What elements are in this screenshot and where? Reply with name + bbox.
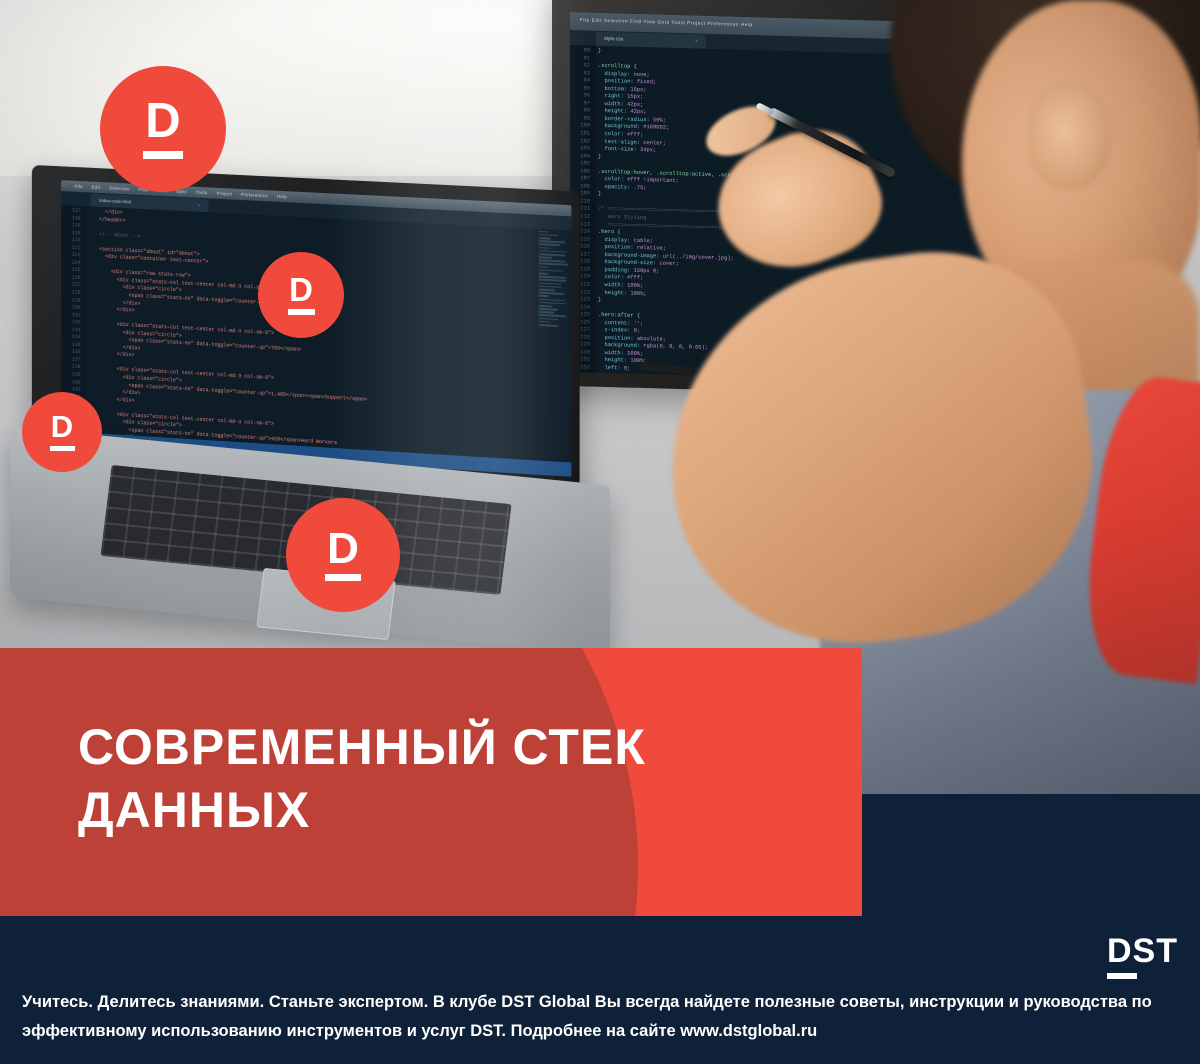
- menu-item-help[interactable]: Help: [277, 194, 287, 199]
- d-badge-underline-icon: [288, 309, 315, 315]
- person-ear: [1026, 80, 1112, 190]
- menu-item-file[interactable]: File: [75, 184, 83, 189]
- minimap-line: [539, 282, 562, 285]
- monitor-tab-label: style.css: [604, 36, 623, 43]
- code-text: .scrolltop {: [598, 63, 637, 70]
- footer-fill: [862, 794, 1200, 918]
- minimap-line: [539, 318, 559, 321]
- dst-logo-text: DST: [1107, 932, 1178, 970]
- menu-item-project[interactable]: Project: [216, 191, 232, 197]
- d-badge-letter: D: [327, 529, 359, 569]
- minimap-line: [539, 279, 567, 282]
- d-badge-underline-icon: [143, 151, 183, 159]
- menu-item-preferences[interactable]: Preferences: [241, 192, 268, 198]
- minimap-line: [539, 234, 558, 237]
- minimap-line: [539, 298, 565, 301]
- minimap-line: [539, 311, 554, 313]
- code-text: }: [598, 48, 601, 54]
- minimap-line: [539, 308, 559, 311]
- minimap-line: [539, 295, 549, 297]
- minimap-line: [539, 243, 560, 246]
- d-badge-letter: D: [289, 275, 313, 305]
- code-text: width: 42px;: [598, 101, 643, 108]
- menu-item-edit[interactable]: Edit: [92, 185, 101, 190]
- code-text: }: [598, 153, 601, 159]
- d-badge-letter: D: [51, 413, 73, 442]
- menu-item-selection[interactable]: Selection: [109, 185, 129, 191]
- footer-note: Учитесь. Делитесь знаниями. Станьте эксп…: [22, 988, 1182, 1046]
- minimap-line: [539, 324, 559, 327]
- laptop-tab-label: index-code.html: [99, 198, 131, 205]
- minimap-line: [539, 231, 549, 233]
- minimap-line: [539, 263, 569, 266]
- minimap-line: [539, 305, 553, 307]
- minimap-line: [539, 314, 567, 317]
- d-badge-underline-icon: [325, 574, 361, 581]
- minimap-line: [539, 321, 550, 323]
- page-title: СОВРЕМЕННЫЙ СТЕК ДАННЫХ: [78, 716, 838, 842]
- d-badge-3[interactable]: D: [22, 392, 102, 472]
- code-text: right: 15px;: [598, 93, 643, 100]
- close-icon: ×: [198, 202, 201, 207]
- minimap-line: [539, 247, 551, 249]
- dst-logo: DST: [1107, 934, 1178, 979]
- dst-logo-underline-icon: [1107, 973, 1137, 979]
- d-badge-1[interactable]: D: [100, 66, 226, 192]
- menu-item-tools[interactable]: Tools: [196, 190, 208, 196]
- d-badge-4[interactable]: D: [286, 498, 400, 612]
- minimap-line: [539, 256, 553, 258]
- code-text: color: #fff;: [598, 131, 643, 138]
- code-text: </div>: [87, 208, 122, 216]
- minimap-line: [539, 285, 561, 288]
- laptop-minimap: [535, 229, 572, 463]
- minimap-line: [539, 237, 551, 239]
- minimap-line: [539, 272, 549, 274]
- code-text: </header>: [87, 216, 125, 224]
- minimap-line: [539, 266, 549, 268]
- d-badge-underline-icon: [50, 446, 75, 451]
- poster-canvas: File Edit Selection Find View Goto Tools…: [0, 0, 1200, 1064]
- d-badge-2[interactable]: D: [258, 252, 344, 338]
- d-badge-letter: D: [145, 99, 180, 144]
- code-text: </div>: [87, 305, 134, 314]
- minimap-line: [539, 289, 556, 291]
